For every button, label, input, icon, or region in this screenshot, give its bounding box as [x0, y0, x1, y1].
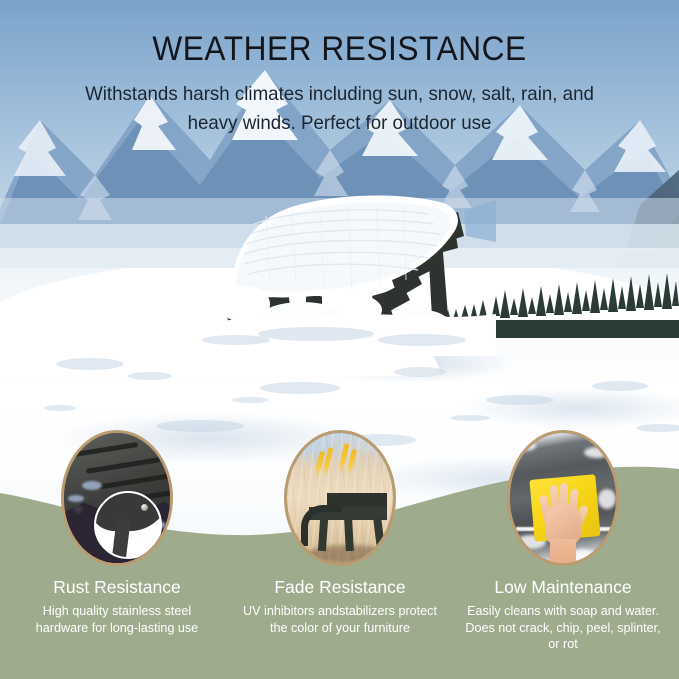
feature-title: Fade Resistance [240, 577, 440, 598]
rain-on-bench-photo [64, 433, 170, 563]
feature-image-fade-resistance [284, 430, 396, 566]
bench-under-snow [196, 176, 496, 356]
feature-description: Easily cleans with soap and water. Does … [463, 603, 663, 653]
soap-suds [584, 447, 610, 458]
feature-card-low-maintenance: Low Maintenance Easily cleans with soap … [463, 430, 663, 653]
page-title: WEATHER RESISTANCE [24, 30, 655, 69]
soap-suds [598, 489, 616, 509]
stainless-bolt-icon [141, 504, 148, 511]
cleaning-bench-photo [510, 433, 616, 563]
feature-card-fade-resistance: Fade Resistance UV inhibitors andstabili… [240, 430, 440, 636]
bench-leg [344, 519, 354, 551]
feature-card-rust-resistance: Rust Resistance High quality stainless s… [17, 430, 217, 636]
bench-leg [373, 517, 385, 550]
feature-title: Low Maintenance [463, 577, 663, 598]
hero-snow-covered-bench [196, 176, 496, 356]
feature-description: UV inhibitors andstabilizers protect the… [240, 603, 440, 636]
hand-icon [541, 481, 587, 566]
weather-resistance-infographic: WEATHER RESISTANCE Withstands harsh clim… [0, 0, 679, 679]
bench-slat [74, 442, 138, 457]
bench-slat [86, 457, 160, 474]
dark-bench-silhouette [293, 485, 396, 559]
wrist [550, 539, 576, 566]
bolt-zoom-inset [94, 491, 162, 559]
feature-title: Rust Resistance [17, 577, 217, 598]
page-subtitle: Withstands harsh climates including sun,… [71, 80, 608, 138]
soap-suds [514, 441, 536, 451]
bench-on-sand-photo [287, 433, 393, 563]
bench-slat [98, 473, 170, 489]
feature-image-rust-resistance [61, 430, 173, 566]
feature-image-low-maintenance [507, 430, 619, 566]
water-splash [82, 481, 102, 490]
feature-description: High quality stainless steel hardware fo… [17, 603, 217, 636]
water-splash [68, 495, 84, 502]
